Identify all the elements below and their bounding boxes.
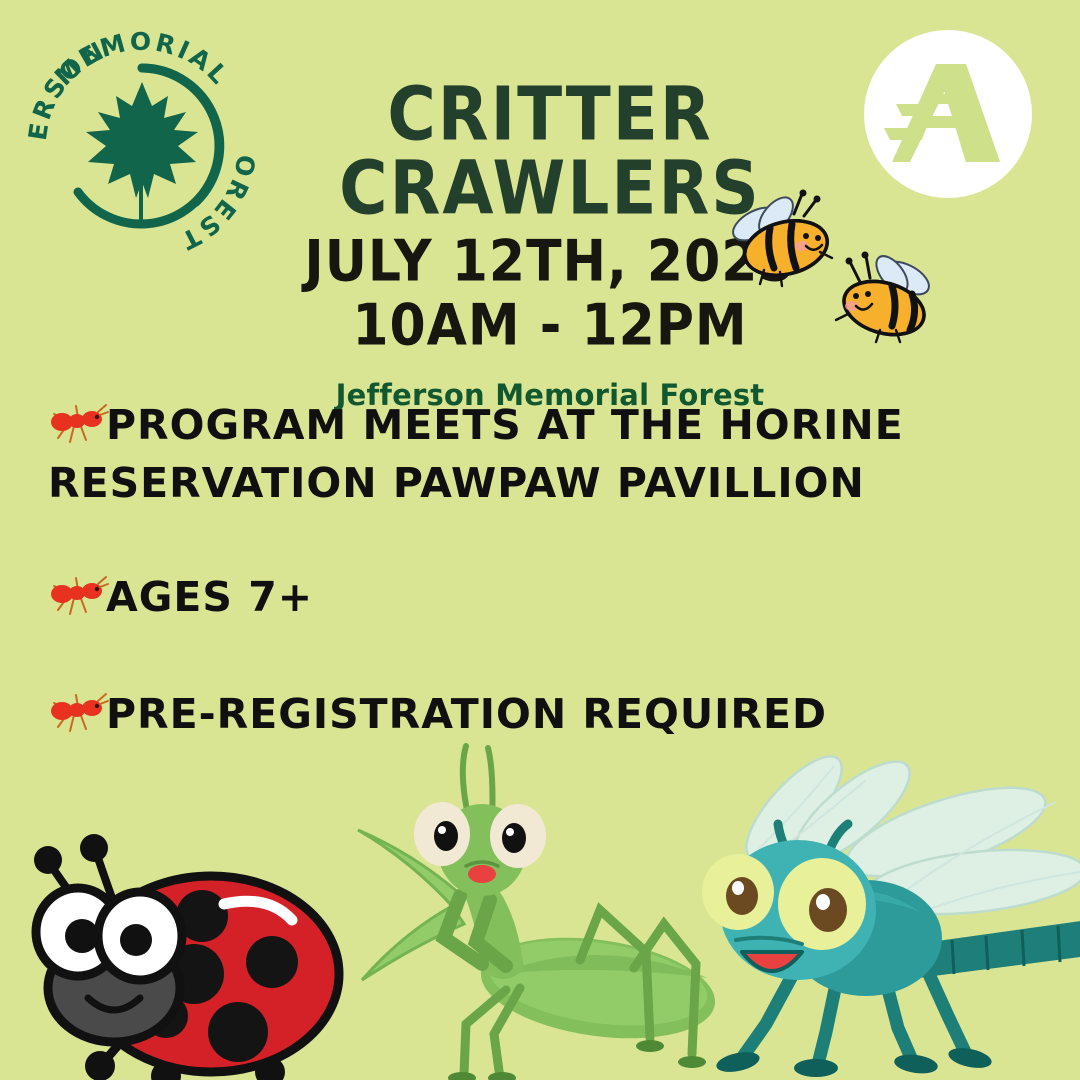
list-item: AGES 7+	[48, 568, 1008, 626]
dragonfly-illustration	[676, 740, 1080, 1080]
list-item-label: PRE-REGISTRATION REQUIRED	[106, 690, 827, 738]
poster-canvas: MEMORIAL JEFFERSON FOREST CRITTER CRAWLE	[0, 0, 1080, 1080]
list-item-label: PROGRAM MEETS AT THE HORINE RESERVATION …	[48, 401, 904, 507]
details-list: PROGRAM MEETS AT THE HORINE RESERVATION …	[48, 396, 1008, 777]
ladybug-illustration	[6, 826, 346, 1080]
ant-icon	[48, 572, 110, 618]
list-item: PROGRAM MEETS AT THE HORINE RESERVATION …	[48, 396, 1008, 512]
bee-illustration-2	[826, 238, 944, 346]
list-item: PRE-REGISTRATION REQUIRED	[48, 685, 1008, 743]
ant-icon	[48, 689, 110, 735]
mantis-illustration	[348, 738, 720, 1080]
event-time: 10AM - 12PM	[180, 294, 920, 358]
ant-icon	[48, 400, 110, 446]
svg-text:JEFFERSON: JEFFERSON	[18, 22, 111, 142]
list-item-label: AGES 7+	[106, 573, 313, 621]
